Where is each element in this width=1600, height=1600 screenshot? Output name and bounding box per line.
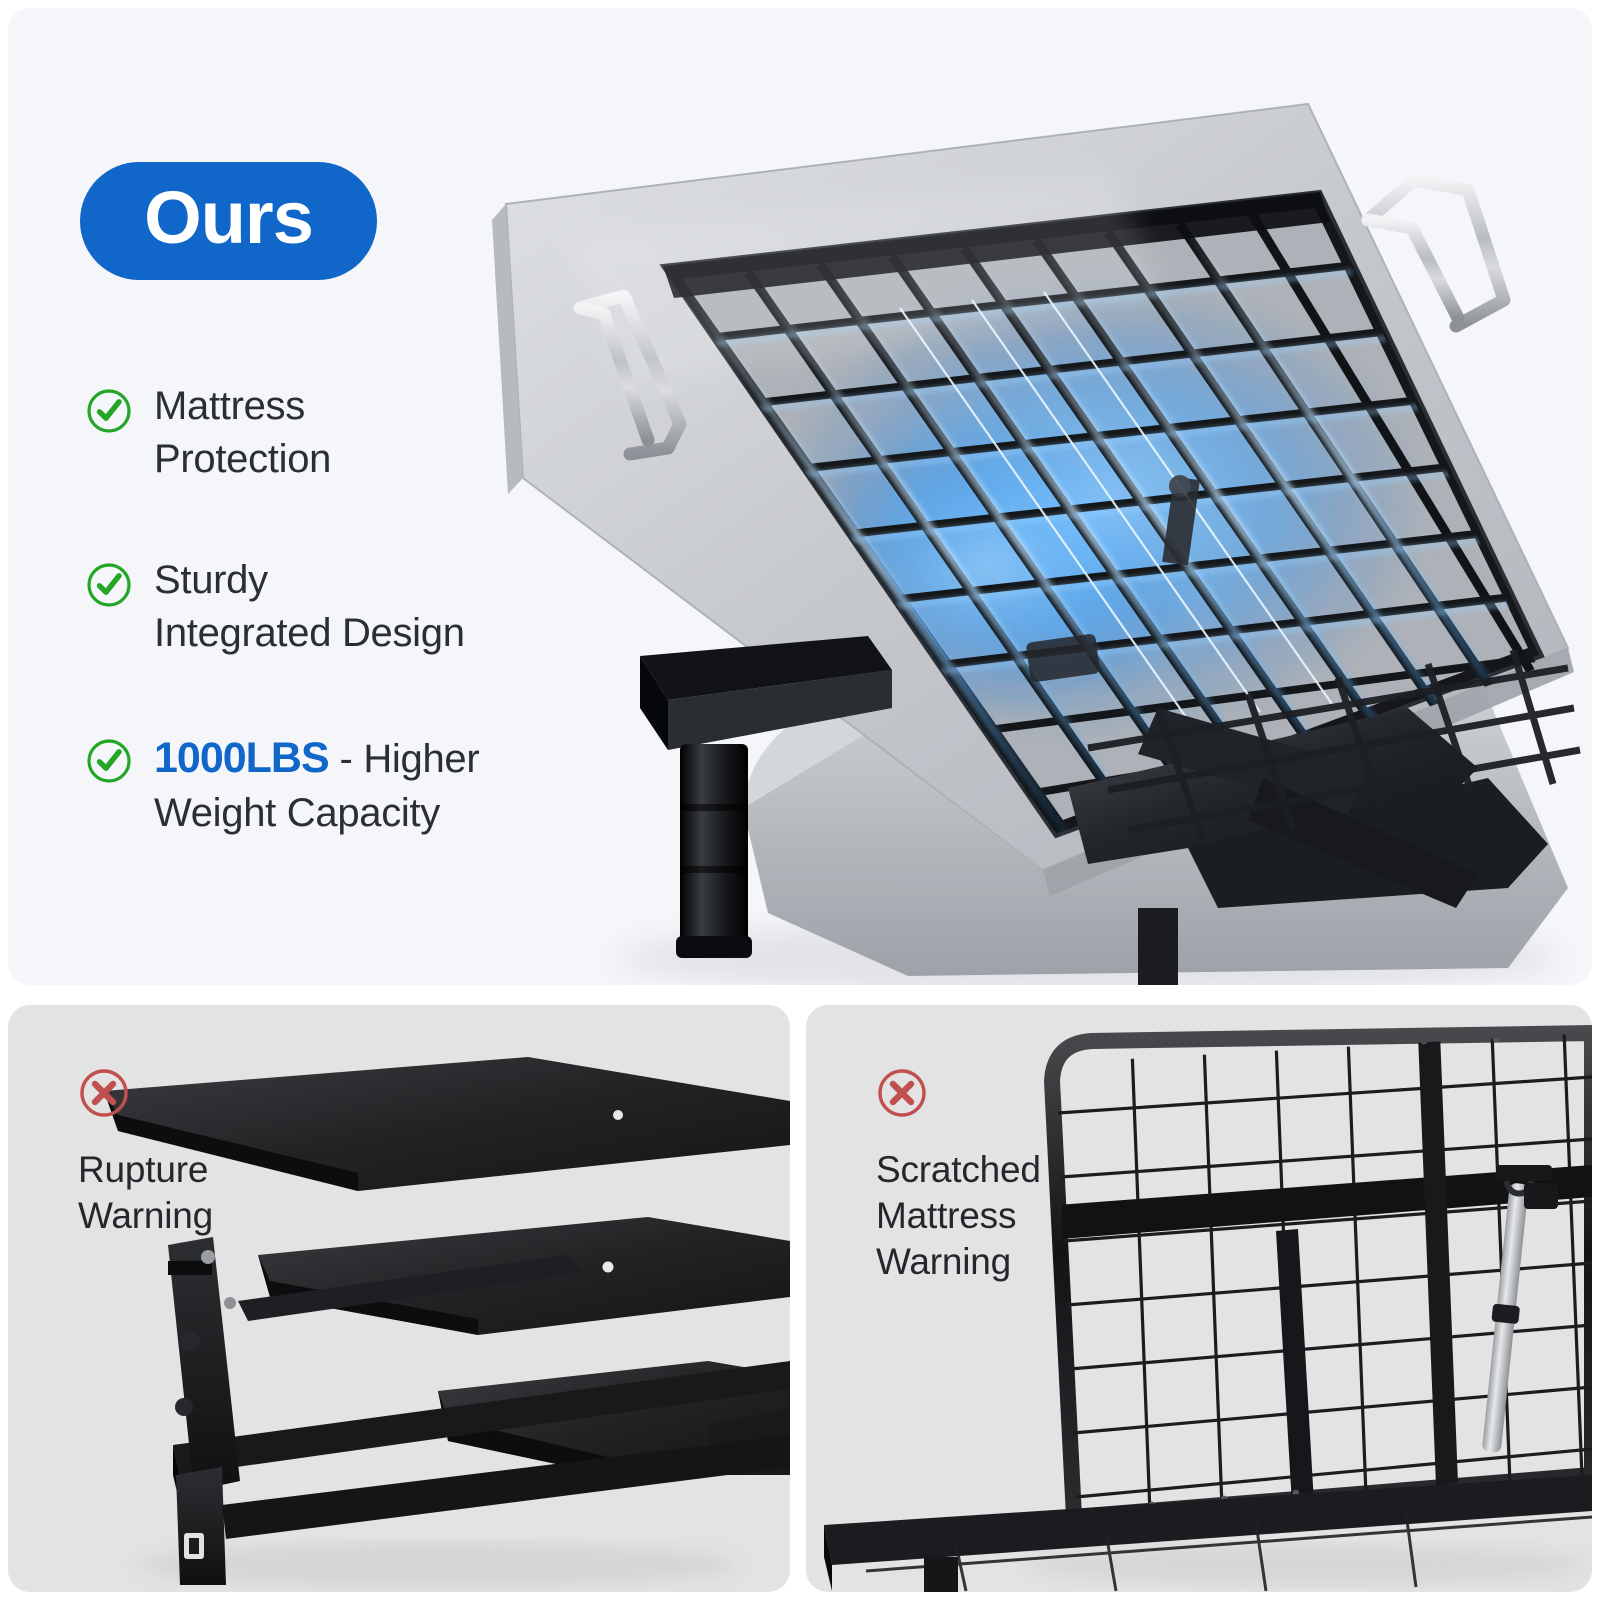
feature-line-2: Integrated Design	[154, 611, 465, 655]
feature-item-sturdy-integrated-design: Sturdy Integrated Design	[86, 554, 465, 660]
feature-text: Mattress Protection	[154, 380, 331, 486]
warning-line-3: Warning	[876, 1241, 1011, 1282]
weight-capacity-value: 1000LBS	[154, 734, 329, 782]
check-circle-icon	[86, 562, 132, 608]
check-circle-icon	[86, 388, 132, 434]
warning-line-2: Mattress	[876, 1195, 1016, 1236]
rupture-warning-text: Rupture Warning	[78, 1147, 213, 1239]
scratched-mattress-warning-block: Scratched Mattress Warning	[876, 1067, 1041, 1285]
x-circle-icon	[78, 1067, 130, 1119]
warning-line-1: Scratched	[876, 1149, 1041, 1190]
feature-item-weight-capacity: 1000LBS - Higher Weight Capacity	[86, 730, 479, 840]
rupture-warning-panel: Rupture Warning	[8, 1005, 790, 1592]
warning-line-1: Rupture	[78, 1149, 208, 1190]
feature-line-1: Sturdy	[154, 558, 268, 602]
x-circle-icon	[876, 1067, 928, 1119]
feature-line-2: Weight Capacity	[154, 791, 440, 835]
scratched-mattress-warning-text: Scratched Mattress Warning	[876, 1147, 1041, 1285]
feature-item-mattress-protection: Mattress Protection	[86, 380, 331, 486]
ours-badge-label: Ours	[144, 181, 313, 255]
feature-text: 1000LBS - Higher Weight Capacity	[154, 730, 479, 840]
check-circle-icon	[86, 738, 132, 784]
warning-line-2: Warning	[78, 1195, 213, 1236]
feature-line-1: Mattress	[154, 384, 305, 428]
feature-text: Sturdy Integrated Design	[154, 554, 465, 660]
ours-hero-panel: Ours Mattress Protection Sturdy Integrat…	[8, 8, 1592, 985]
rupture-warning-block: Rupture Warning	[78, 1067, 213, 1239]
ours-badge: Ours	[80, 162, 377, 280]
feature-line-2: Protection	[154, 437, 331, 481]
scratched-mattress-warning-panel: Scratched Mattress Warning	[806, 1005, 1592, 1592]
feature-line-1: - Higher	[329, 737, 480, 781]
